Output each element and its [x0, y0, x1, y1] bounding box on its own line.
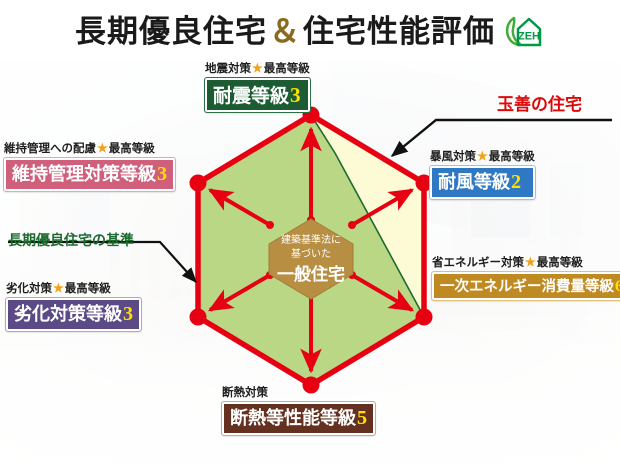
- metric-insulation-badge: 断熱等性能等級5: [222, 402, 375, 435]
- center-line1: 建築基準法に: [281, 233, 341, 246]
- metric-insulation-caption: 断熱対策: [222, 386, 375, 400]
- annotation-company: 玉善の住宅: [497, 90, 582, 115]
- metric-degradation-caption-before: 劣化対策: [6, 283, 52, 295]
- metric-degradation-label: 劣化対策等級: [14, 304, 122, 324]
- metric-maintenance-grade: 3: [156, 163, 167, 185]
- metric-quake-badge: 耐震等級3: [205, 78, 310, 113]
- metric-energy-badge: 一次エネルギー消費量等級6: [432, 272, 620, 301]
- metric-wind-badge: 耐風等級2: [430, 166, 535, 199]
- title-part-a: 長期優良住宅: [75, 14, 267, 49]
- metric-wind-label: 耐風等級: [438, 172, 510, 192]
- zeh-logo-icon: ZEH: [503, 12, 545, 50]
- metric-insulation-label: 断熱等性能等級: [230, 408, 356, 428]
- metric-maintenance-label: 維持管理対策等級: [12, 164, 156, 184]
- metric-energy: 省エネルギー対策★最高等級 一次エネルギー消費量等級6: [432, 256, 620, 300]
- title-part-b: 住宅性能評価: [303, 14, 495, 49]
- page-header: 長期優良住宅＆住宅性能評価 ZEH: [0, 6, 620, 56]
- metric-maintenance-badge: 維持管理対策等級3: [4, 158, 175, 191]
- metric-energy-caption: 省エネルギー対策★最高等級: [432, 256, 620, 270]
- metric-quake: 地震対策★最高等級 耐震等級3: [205, 62, 310, 112]
- metric-degradation-caption: 劣化対策★最高等級: [6, 282, 141, 296]
- metric-wind-caption-before: 暴風対策: [430, 151, 476, 163]
- svg-text:ZEH: ZEH: [518, 31, 540, 43]
- annotation-standard: 長期優良住宅の基準: [8, 230, 134, 250]
- metric-degradation-grade: 3: [122, 303, 133, 325]
- metric-energy-caption-after: 最高等級: [537, 257, 583, 269]
- star-icon: ★: [52, 281, 65, 295]
- metric-degradation-caption-after: 最高等級: [65, 283, 111, 295]
- star-icon: [268, 385, 270, 399]
- title-ampersand: ＆: [267, 14, 303, 49]
- metric-maintenance: 維持管理への配慮★最高等級 維持管理対策等級3: [4, 142, 175, 191]
- metric-maintenance-caption: 維持管理への配慮★最高等級: [4, 142, 175, 156]
- metric-degradation: 劣化対策★最高等級 劣化対策等級3: [6, 282, 141, 331]
- metric-quake-caption-before: 地震対策: [205, 63, 251, 75]
- star-icon: ★: [524, 255, 537, 269]
- star-icon: ★: [96, 141, 109, 155]
- center-line3: 一般住宅: [277, 264, 345, 284]
- metric-insulation-caption-before: 断熱対策: [222, 387, 268, 399]
- center-line2: 基づいた: [291, 247, 331, 260]
- metric-quake-caption-after: 最高等級: [264, 63, 310, 75]
- metric-degradation-badge: 劣化対策等級3: [6, 298, 141, 331]
- metric-quake-caption: 地震対策★最高等級: [205, 62, 310, 76]
- radar-chart: 建築基準法に 基づいた 一般住宅: [160, 95, 460, 405]
- metric-wind-caption-after: 最高等級: [489, 151, 535, 163]
- page-title: 長期優良住宅＆住宅性能評価: [75, 16, 495, 47]
- metric-energy-caption-before: 省エネルギー対策: [432, 257, 524, 269]
- metric-wind: 暴風対策★最高等級 耐風等級2: [430, 150, 535, 199]
- metric-wind-caption: 暴風対策★最高等級: [430, 150, 535, 164]
- infographic-canvas: 長期優良住宅＆住宅性能評価 ZEH: [0, 0, 620, 464]
- metric-insulation: 断熱対策 断熱等性能等級5: [222, 386, 375, 435]
- metric-quake-label: 耐震等級: [213, 86, 289, 107]
- metric-insulation-grade: 5: [356, 407, 367, 429]
- metric-maintenance-caption-before: 維持管理への配慮: [4, 143, 96, 155]
- metric-quake-grade: 3: [289, 83, 301, 107]
- star-icon: ★: [476, 149, 489, 163]
- metric-maintenance-caption-after: 最高等級: [109, 143, 155, 155]
- metric-wind-grade: 2: [510, 171, 521, 193]
- metric-energy-grade: 6: [614, 277, 620, 295]
- metric-energy-label: 一次エネルギー消費量等級: [440, 279, 614, 295]
- star-icon: ★: [251, 61, 264, 75]
